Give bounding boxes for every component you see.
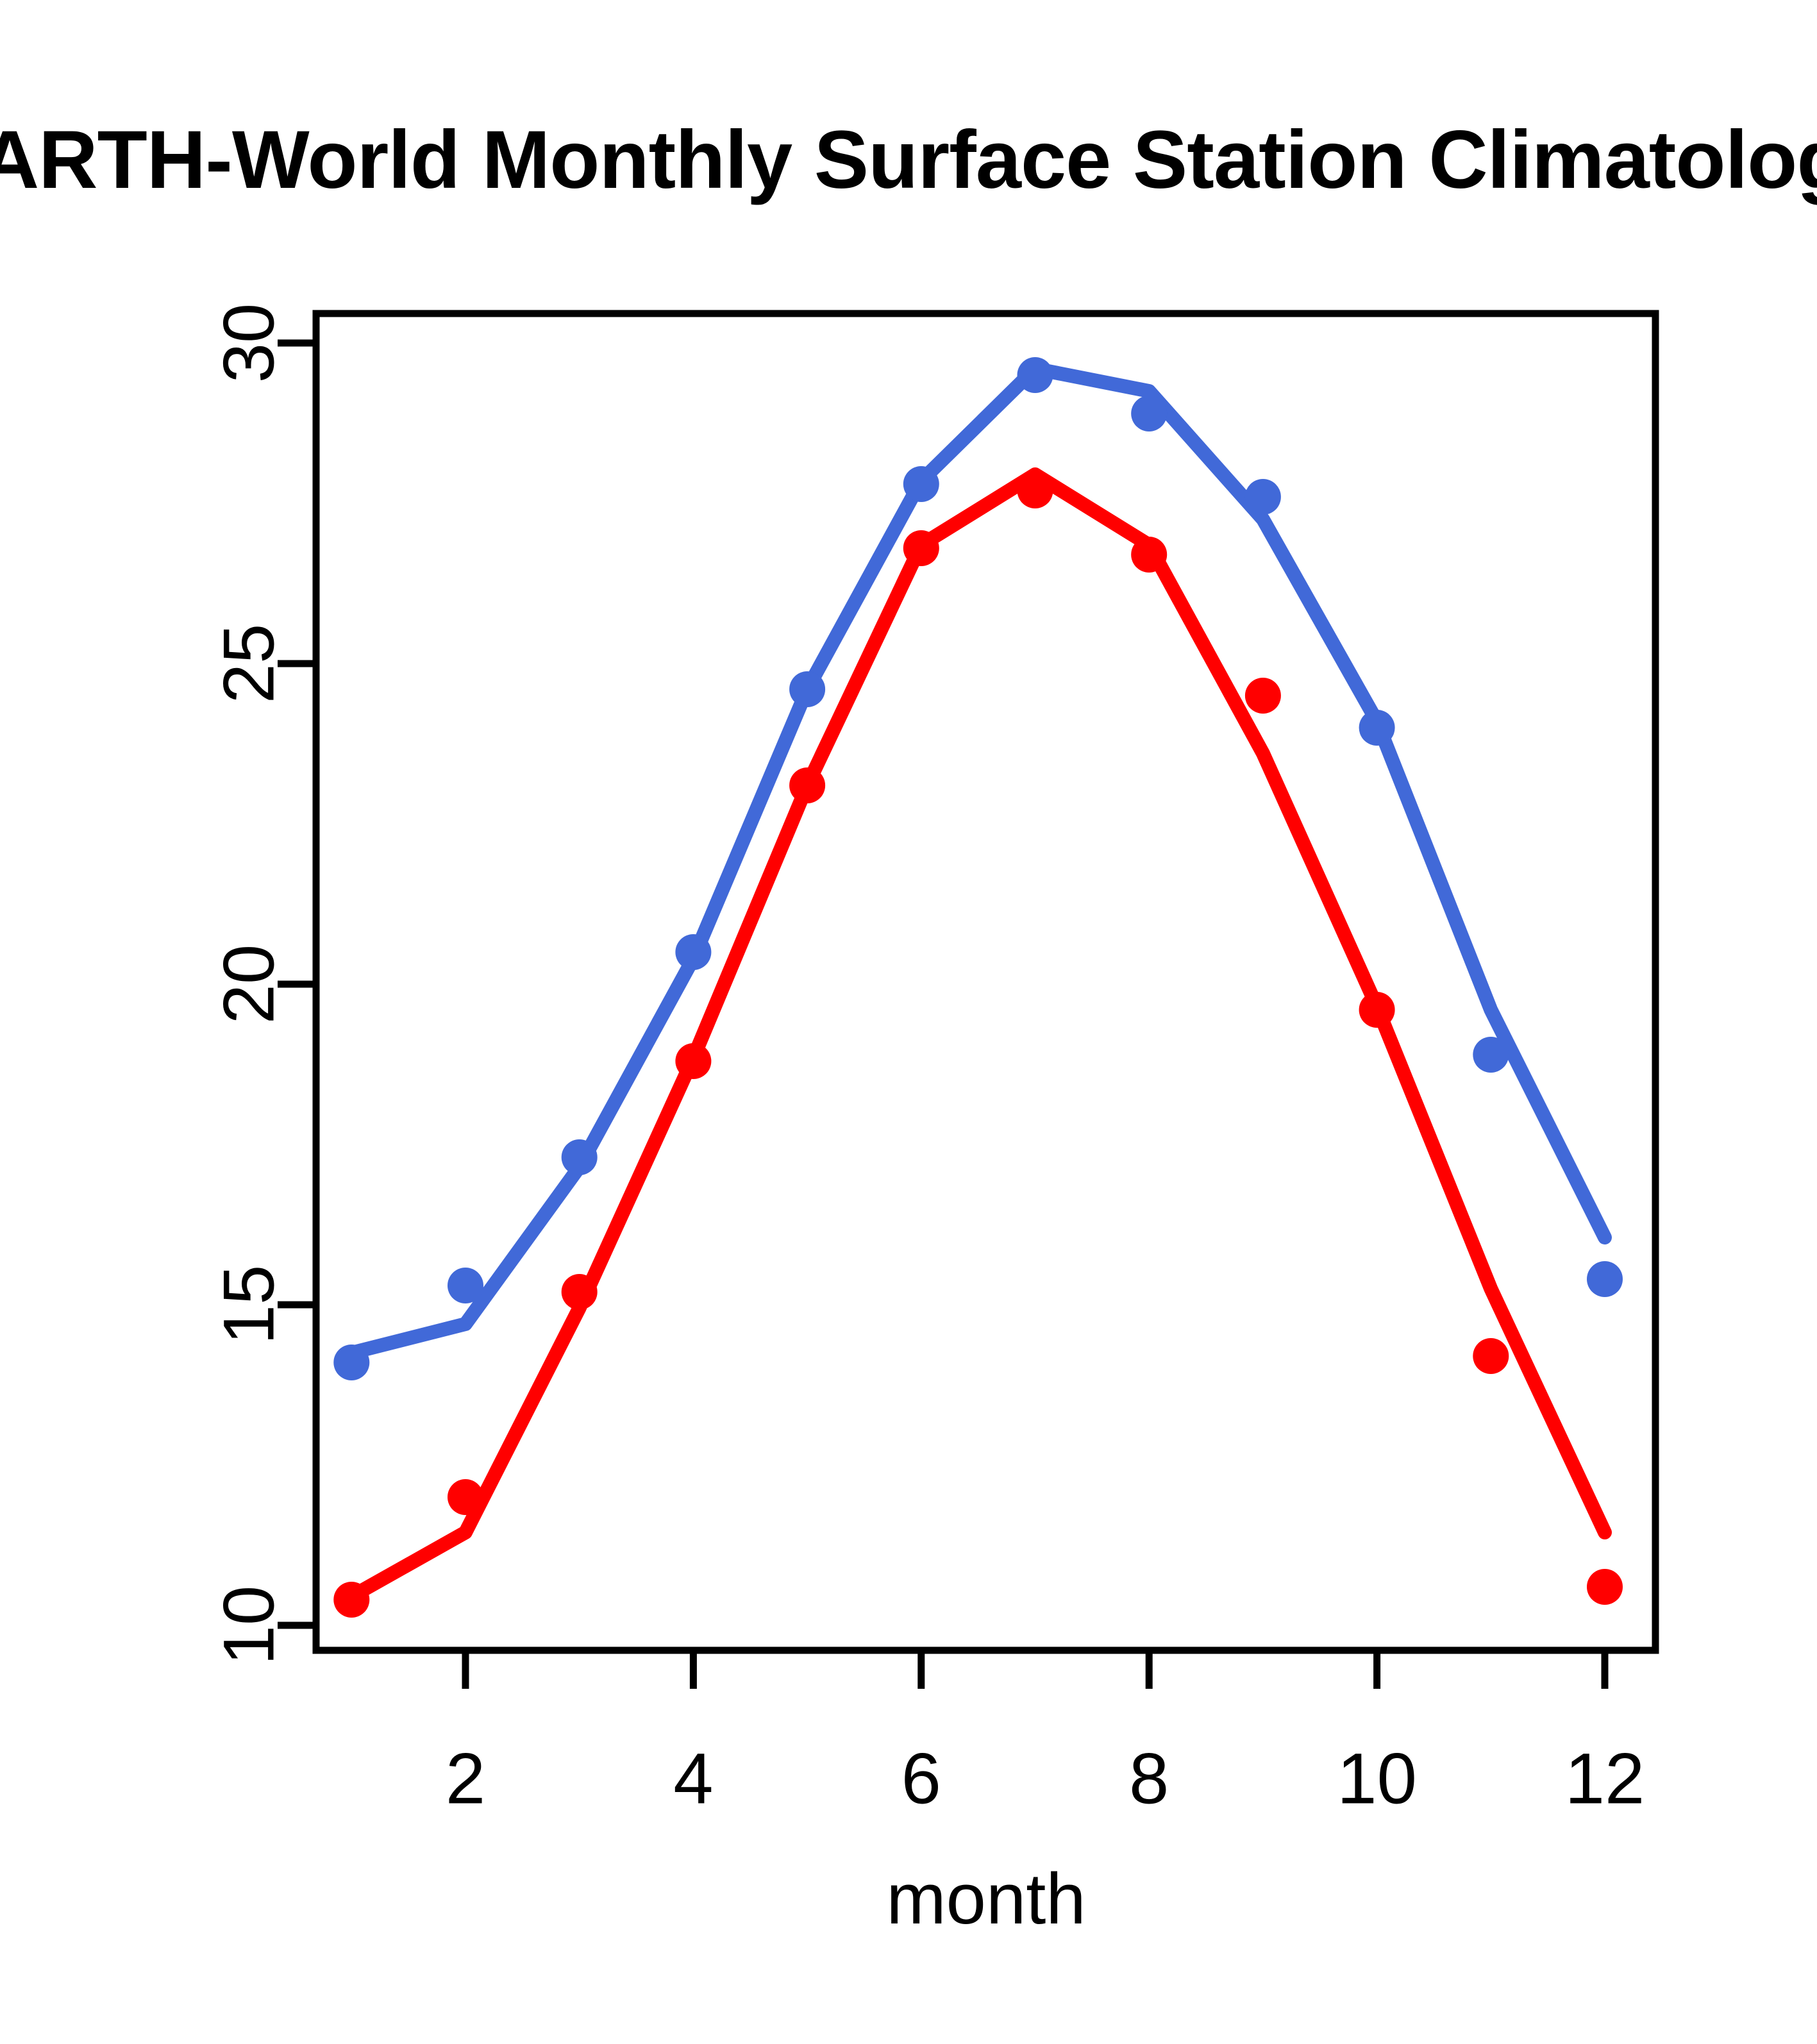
data-point-blue-10 — [1359, 710, 1395, 746]
x-axis-ticks — [465, 1650, 1605, 1689]
data-point-blue-5 — [789, 671, 825, 707]
y-tick-label: 10 — [209, 1586, 289, 1666]
data-point-red-6 — [903, 530, 939, 566]
data-point-blue-4 — [675, 934, 711, 970]
data-point-blue-11 — [1473, 1037, 1509, 1073]
x-tick-label: 12 — [1565, 1739, 1645, 1819]
data-point-red-3 — [562, 1274, 598, 1310]
data-point-blue-6 — [903, 466, 939, 502]
data-point-blue-8 — [1131, 396, 1167, 431]
x-axis-tick-labels: 24681012 — [446, 1739, 1645, 1819]
data-point-blue-1 — [333, 1345, 369, 1380]
chart-canvas: EARTH-World Monthly Surface Station Clim… — [0, 0, 1817, 2044]
x-axis-title: month — [886, 1859, 1085, 1939]
data-point-red-10 — [1359, 992, 1395, 1028]
series-lines — [351, 369, 1605, 1596]
data-point-blue-3 — [562, 1139, 598, 1175]
y-tick-label: 15 — [209, 1265, 289, 1345]
data-point-red-11 — [1473, 1338, 1509, 1374]
series-points — [333, 357, 1623, 1618]
data-point-red-5 — [789, 767, 825, 803]
data-point-red-1 — [333, 1582, 369, 1618]
x-tick-label: 6 — [901, 1739, 941, 1819]
y-tick-label: 30 — [209, 303, 289, 383]
data-point-blue-12 — [1587, 1261, 1623, 1297]
data-point-blue-7 — [1017, 357, 1053, 393]
data-point-red-8 — [1131, 537, 1167, 573]
data-point-blue-9 — [1245, 479, 1281, 515]
data-point-red-2 — [448, 1479, 483, 1515]
data-point-blue-2 — [448, 1268, 483, 1303]
data-point-red-7 — [1017, 473, 1053, 508]
series-line-red — [351, 474, 1605, 1596]
data-point-red-9 — [1245, 678, 1281, 714]
x-tick-label: 4 — [673, 1739, 713, 1819]
y-tick-label: 20 — [209, 944, 289, 1025]
data-point-red-12 — [1587, 1569, 1623, 1605]
y-axis-tick-labels: 1015202530 — [209, 303, 289, 1666]
x-tick-label: 2 — [446, 1739, 485, 1819]
plot-frame — [316, 314, 1655, 1650]
x-tick-label: 8 — [1129, 1739, 1169, 1819]
x-tick-label: 10 — [1337, 1739, 1417, 1819]
chart-plot-area: 1015202530 24681012 month — [0, 0, 1817, 2044]
data-point-red-4 — [675, 1043, 711, 1079]
y-tick-label: 25 — [209, 624, 289, 704]
